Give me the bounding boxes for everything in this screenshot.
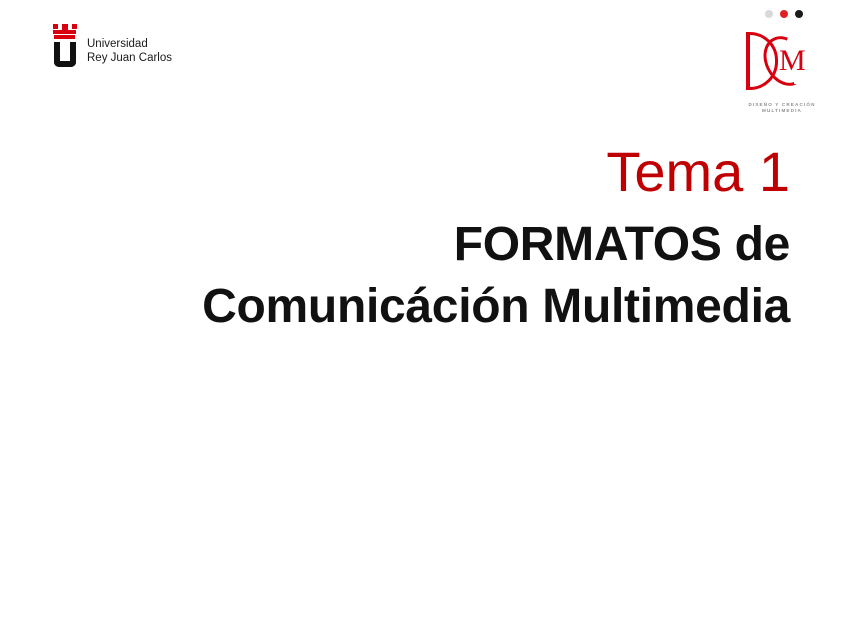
dcm-dot-black xyxy=(795,10,803,18)
dcm-monogram-icon: M xyxy=(746,32,818,92)
urjc-u-letter-icon xyxy=(54,42,76,67)
dcm-logo: M DISEÑO Y CREACIÓN MULTIMEDIA xyxy=(726,10,838,115)
crown-point-left xyxy=(53,24,58,29)
urjc-wordmark: Universidad Rey Juan Carlos xyxy=(87,24,172,65)
universidad-rey-juan-carlos-logo: Universidad Rey Juan Carlos xyxy=(52,24,172,68)
slide-title-line1: FORMATOS de xyxy=(0,214,790,276)
dcm-letter-m: M xyxy=(779,46,806,76)
slide-title-line2: Comunicáción Multimedia xyxy=(0,276,790,338)
dcm-subtitle: DISEÑO Y CREACIÓN MULTIMEDIA xyxy=(726,102,838,115)
crown-base xyxy=(54,35,75,39)
crown-band xyxy=(53,30,76,34)
dcm-dots-row xyxy=(726,10,838,18)
urjc-crown-and-u-mark xyxy=(52,24,78,68)
slide-title-block: Tema 1 FORMATOS de Comunicáción Multimed… xyxy=(0,140,790,338)
urjc-wordmark-line2: Rey Juan Carlos xyxy=(87,51,172,65)
slide-canvas: Universidad Rey Juan Carlos M DISEÑO Y C… xyxy=(0,0,848,636)
dcm-dot-gray xyxy=(765,10,773,18)
slide-body-placeholder xyxy=(0,375,848,636)
dcm-dot-red xyxy=(780,10,788,18)
urjc-wordmark-line1: Universidad xyxy=(87,37,172,51)
crown-icon xyxy=(52,24,78,40)
crown-point-right xyxy=(72,24,77,29)
slide-topic-number: Tema 1 xyxy=(0,140,790,204)
dcm-subtitle-line2: MULTIMEDIA xyxy=(726,108,838,114)
